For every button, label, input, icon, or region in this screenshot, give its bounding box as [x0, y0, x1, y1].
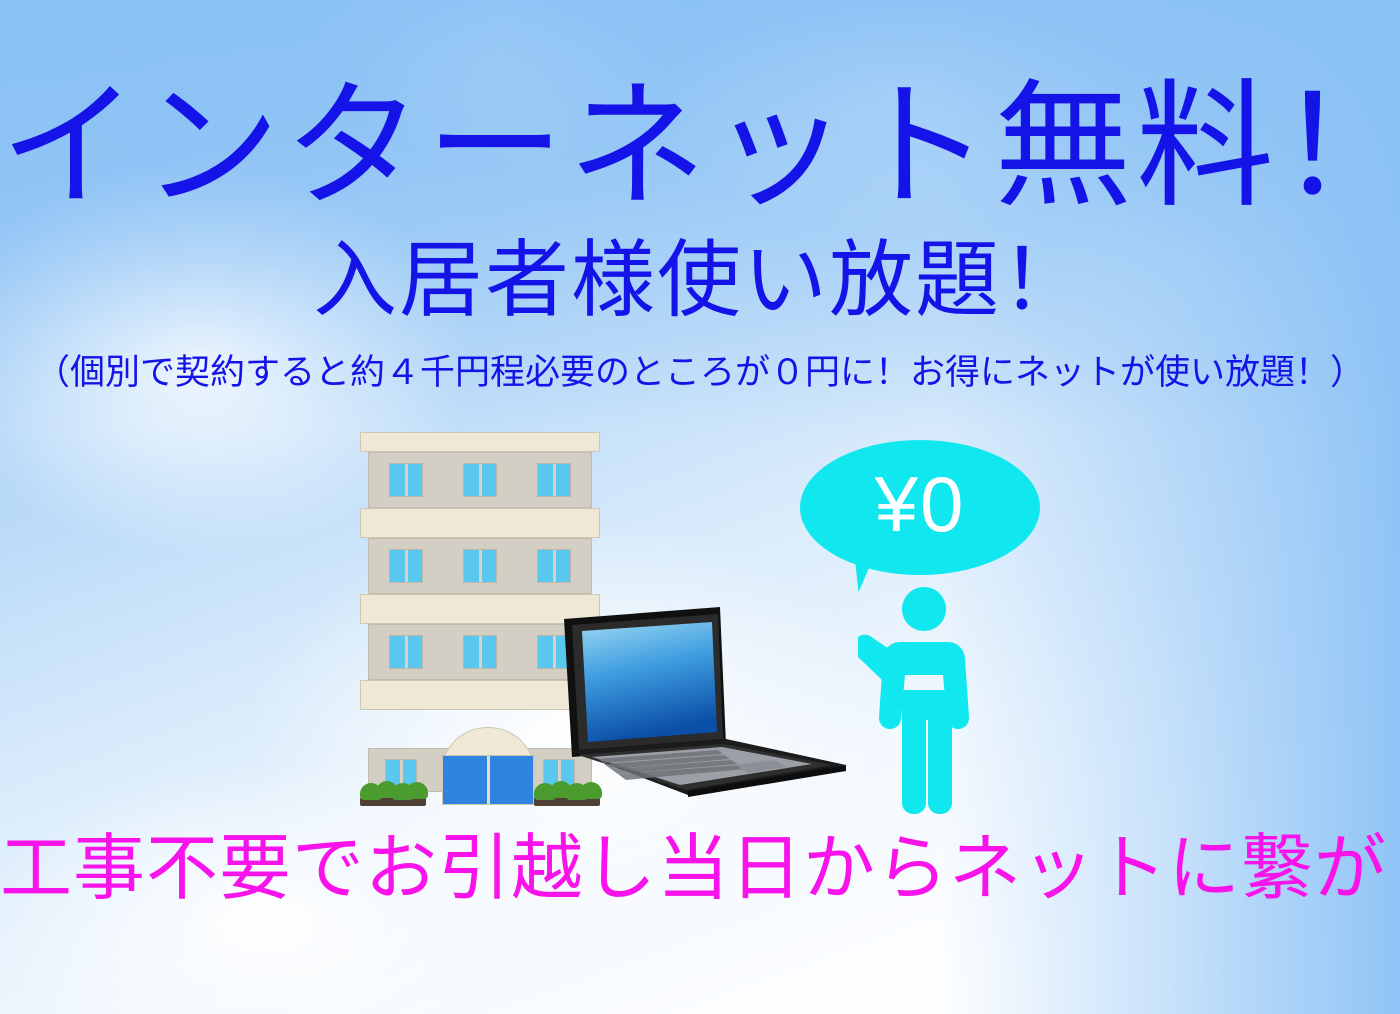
page-title: インターネット無料！ [0, 78, 1400, 216]
person-pictogram [858, 586, 982, 818]
building-window [463, 463, 497, 497]
building-floor-2 [368, 624, 592, 680]
building-floor-4 [368, 452, 592, 508]
building-window [389, 635, 423, 669]
shrub-bed [360, 784, 426, 806]
building-window [389, 549, 423, 583]
building-window [537, 549, 571, 583]
subtitle: 入居者様使い放題！ [0, 238, 1400, 322]
building-window [463, 635, 497, 669]
building-floor-3 [368, 538, 592, 594]
laptop-icon [560, 605, 850, 810]
building-balcony-band [360, 508, 600, 538]
building-entrance-door [442, 755, 534, 805]
laptop-illustration [560, 605, 850, 810]
building-roof [360, 432, 600, 452]
footer-text: 工事不要でお引越し当日からネットに繋がります [0, 833, 1400, 905]
building-window [537, 463, 571, 497]
shrub-leaf [406, 782, 428, 799]
person-icon [858, 586, 982, 818]
building-window [463, 549, 497, 583]
poster-canvas: インターネット無料！ 入居者様使い放題！ （個別で契約すると約４千円程必要のとこ… [0, 0, 1400, 1014]
price-speech-bubble: ¥0 [800, 440, 1040, 575]
building-window [389, 463, 423, 497]
price-label: ¥0 [875, 465, 966, 543]
note-text: （個別で契約すると約４千円程必要のところが０円に！お得にネットが使い放題！） [0, 355, 1400, 390]
